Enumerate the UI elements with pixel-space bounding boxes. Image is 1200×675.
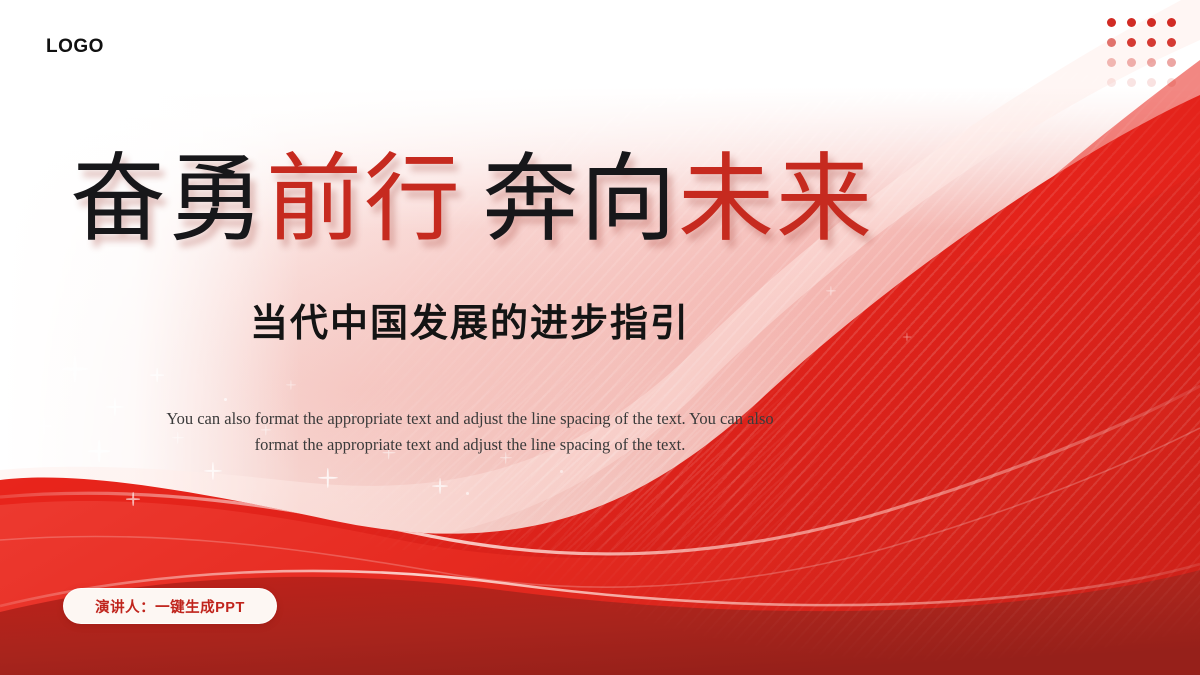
- slide-headline: 奋勇前行奔向未来: [70, 152, 870, 248]
- dot: [1147, 38, 1156, 47]
- dot: [1167, 78, 1176, 87]
- headline-char: 行: [364, 152, 462, 248]
- headline-char: 前: [266, 152, 364, 248]
- dot: [1167, 38, 1176, 47]
- slide-subtitle: 当代中国发展的进步指引: [0, 292, 1200, 347]
- dot: [1127, 78, 1136, 87]
- headline-char: 奔: [482, 152, 580, 248]
- headline-char: 奋: [70, 152, 168, 248]
- logo: LOGO: [46, 36, 104, 58]
- dot: [1107, 58, 1116, 67]
- dot: [1127, 38, 1136, 47]
- dot-grid-decoration: [1107, 18, 1178, 89]
- speaker-badge[interactable]: 演讲人：一键生成PPT: [63, 588, 277, 624]
- dot: [1127, 18, 1136, 27]
- dot: [1147, 58, 1156, 67]
- dot: [1127, 58, 1136, 67]
- dot: [1107, 18, 1116, 27]
- headline-char: 向: [580, 152, 678, 248]
- dot: [1107, 38, 1116, 47]
- dot: [1167, 18, 1176, 27]
- dot: [1107, 78, 1116, 87]
- dot: [1167, 58, 1176, 67]
- dot: [1147, 78, 1156, 87]
- presentation-slide: LOGO 奋勇前行奔向未来 当代中国发展的进步指引 You can also f…: [0, 0, 1200, 675]
- headline-char: 来: [776, 152, 874, 248]
- headline-char: 未: [678, 152, 776, 248]
- slide-body-text: You can also format the appropriate text…: [152, 406, 788, 457]
- dot: [1147, 18, 1156, 27]
- headline-char: 勇: [168, 152, 266, 248]
